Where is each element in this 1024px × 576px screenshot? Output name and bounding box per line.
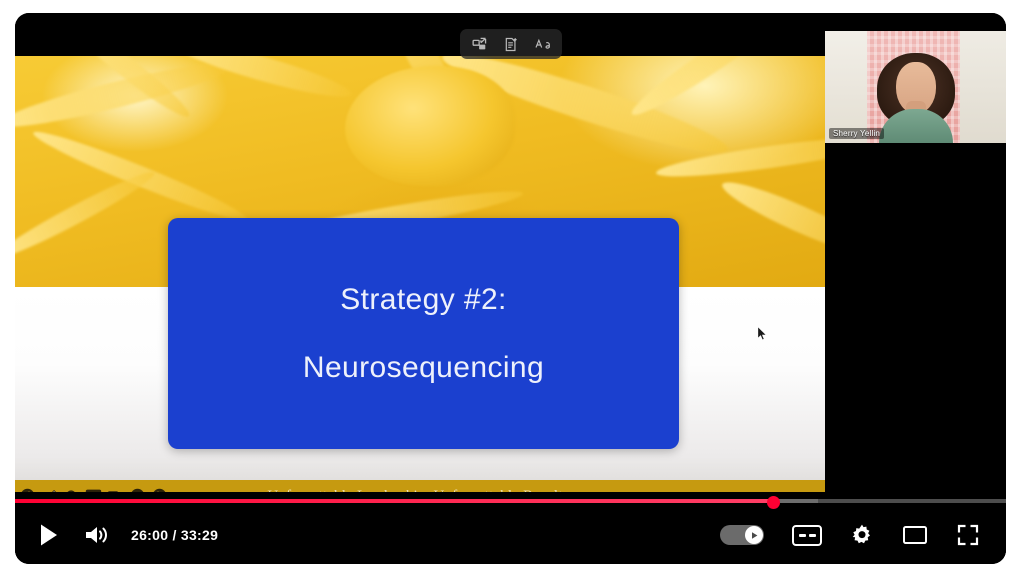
webcam-tile[interactable]: Sherry Yellin	[825, 31, 1006, 143]
neuron-cell-body	[345, 66, 515, 186]
translate-icon[interactable]	[530, 33, 556, 55]
progress-played	[15, 499, 773, 503]
player-control-bar[interactable]: 26:00 / 33:29	[15, 492, 1006, 564]
volume-button[interactable]	[83, 516, 109, 554]
progress-bar[interactable]	[15, 499, 1006, 503]
presentation-slide: Unforgettable Leadership. Unforgettable …	[15, 56, 825, 512]
video-player[interactable]: Unforgettable Leadership. Unforgettable …	[15, 13, 1006, 564]
screenshot-root: Unforgettable Leadership. Unforgettable …	[0, 0, 1024, 576]
webcam-person	[873, 51, 959, 143]
slide-headline-secondary: Neurosequencing	[303, 351, 544, 385]
autoplay-toggle[interactable]	[720, 516, 764, 554]
captions-button[interactable]	[792, 516, 822, 554]
slide-headline-card: Strategy #2: Neurosequencing	[168, 218, 679, 449]
picture-in-picture-icon[interactable]	[466, 33, 492, 55]
notes-icon[interactable]	[498, 33, 524, 55]
fullscreen-button[interactable]	[956, 516, 980, 554]
extension-toolbar[interactable]	[460, 29, 562, 59]
video-stage[interactable]: Unforgettable Leadership. Unforgettable …	[15, 13, 825, 564]
play-button[interactable]	[37, 516, 61, 554]
participant-name-label: Sherry Yellin	[829, 128, 884, 139]
miniplayer-button[interactable]	[902, 516, 928, 554]
webcam-rail: Sherry Yellin	[825, 13, 1006, 564]
settings-button[interactable]	[850, 516, 874, 554]
slide-headline-primary: Strategy #2:	[340, 283, 507, 317]
time-display: 26:00 / 33:29	[131, 527, 218, 543]
